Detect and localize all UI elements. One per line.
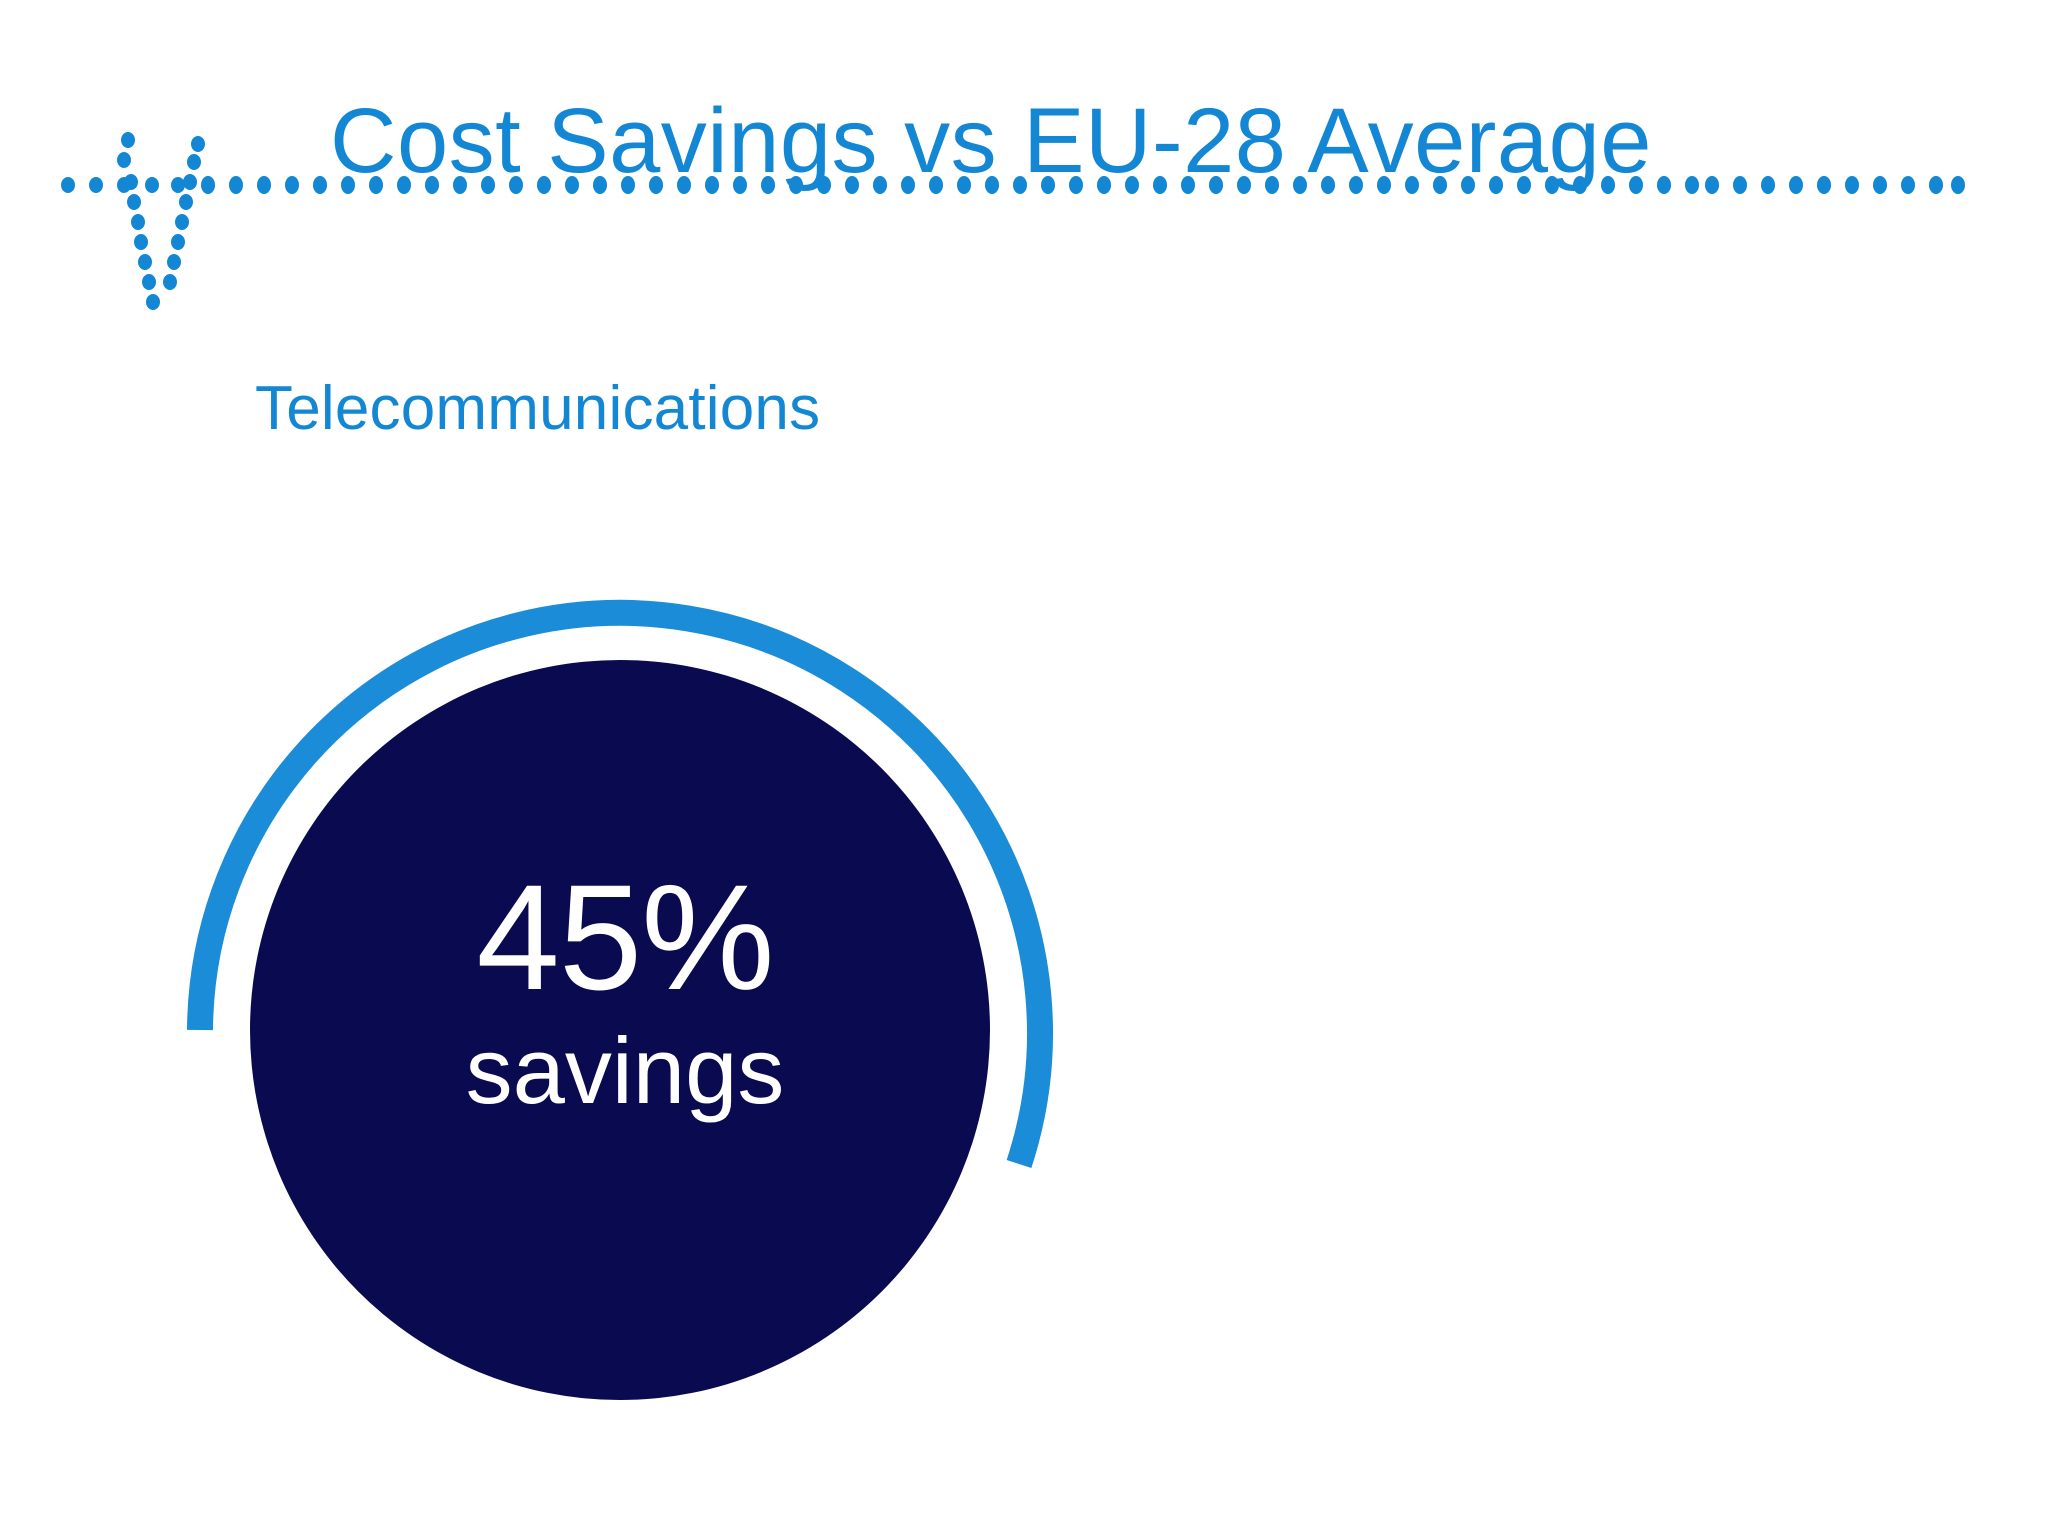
category-label: Telecommunications: [255, 378, 820, 440]
page-title: Cost Savings vs EU-28 Average: [330, 95, 1652, 187]
stat-disc: [250, 660, 990, 1400]
slide-canvas: Cost Savings vs EU-28 Average Telecommun…: [0, 0, 2048, 1536]
savings-donut-chart: 45% savings: [120, 530, 1120, 1530]
